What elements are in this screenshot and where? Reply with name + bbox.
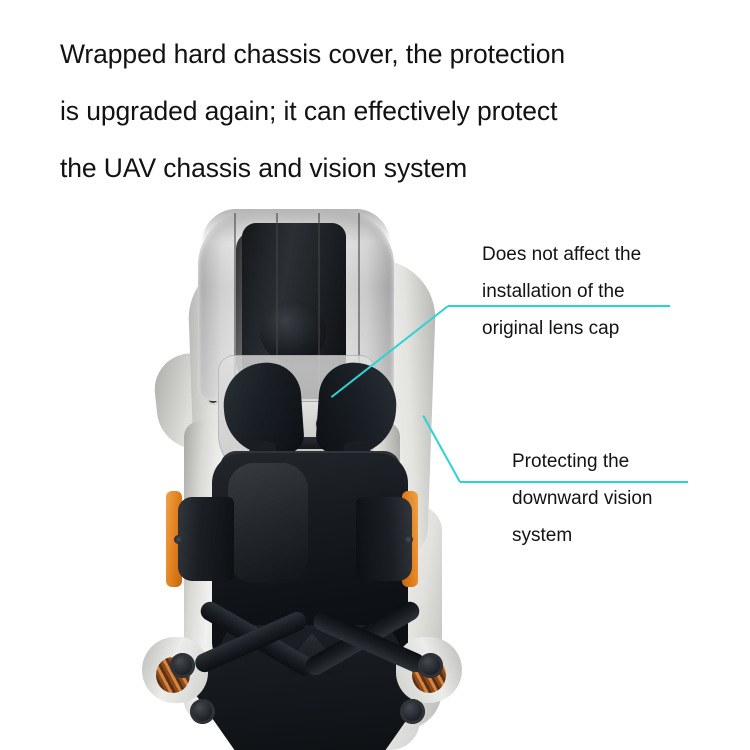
propeller-hub-right-upper xyxy=(418,653,443,678)
headline-line-3: the UAV chassis and vision system xyxy=(60,140,730,197)
camera-lens xyxy=(260,301,326,363)
callout-lens-cap-line-1: Does not affect the xyxy=(482,236,641,273)
headline: Wrapped hard chassis cover, the protecti… xyxy=(60,26,730,197)
callout-downward-vision: Protecting the downward vision system xyxy=(512,443,652,554)
callout-vision-line-2: downward vision xyxy=(512,480,652,517)
propeller-hub-right-lower xyxy=(400,699,425,724)
callout-lens-cap-line-3: original lens cap xyxy=(482,310,641,347)
right-clamp-screw xyxy=(404,535,413,544)
chassis-cover-highlight xyxy=(228,463,308,583)
left-clamp-body xyxy=(178,497,234,581)
left-clamp-screw xyxy=(174,535,183,544)
headline-line-2: is upgraded again; it can effectively pr… xyxy=(60,83,730,140)
propeller-hub-left-lower xyxy=(190,699,215,724)
callout-vision-line-3: system xyxy=(512,517,652,554)
product-feature-image: Wrapped hard chassis cover, the protecti… xyxy=(0,0,750,750)
propeller-hub-left-upper xyxy=(170,653,195,678)
callout-lens-cap: Does not affect the installation of the … xyxy=(482,236,641,347)
callout-lens-cap-line-2: installation of the xyxy=(482,273,641,310)
callout-vision-line-1: Protecting the xyxy=(512,443,652,480)
headline-line-1: Wrapped hard chassis cover, the protecti… xyxy=(60,26,730,83)
